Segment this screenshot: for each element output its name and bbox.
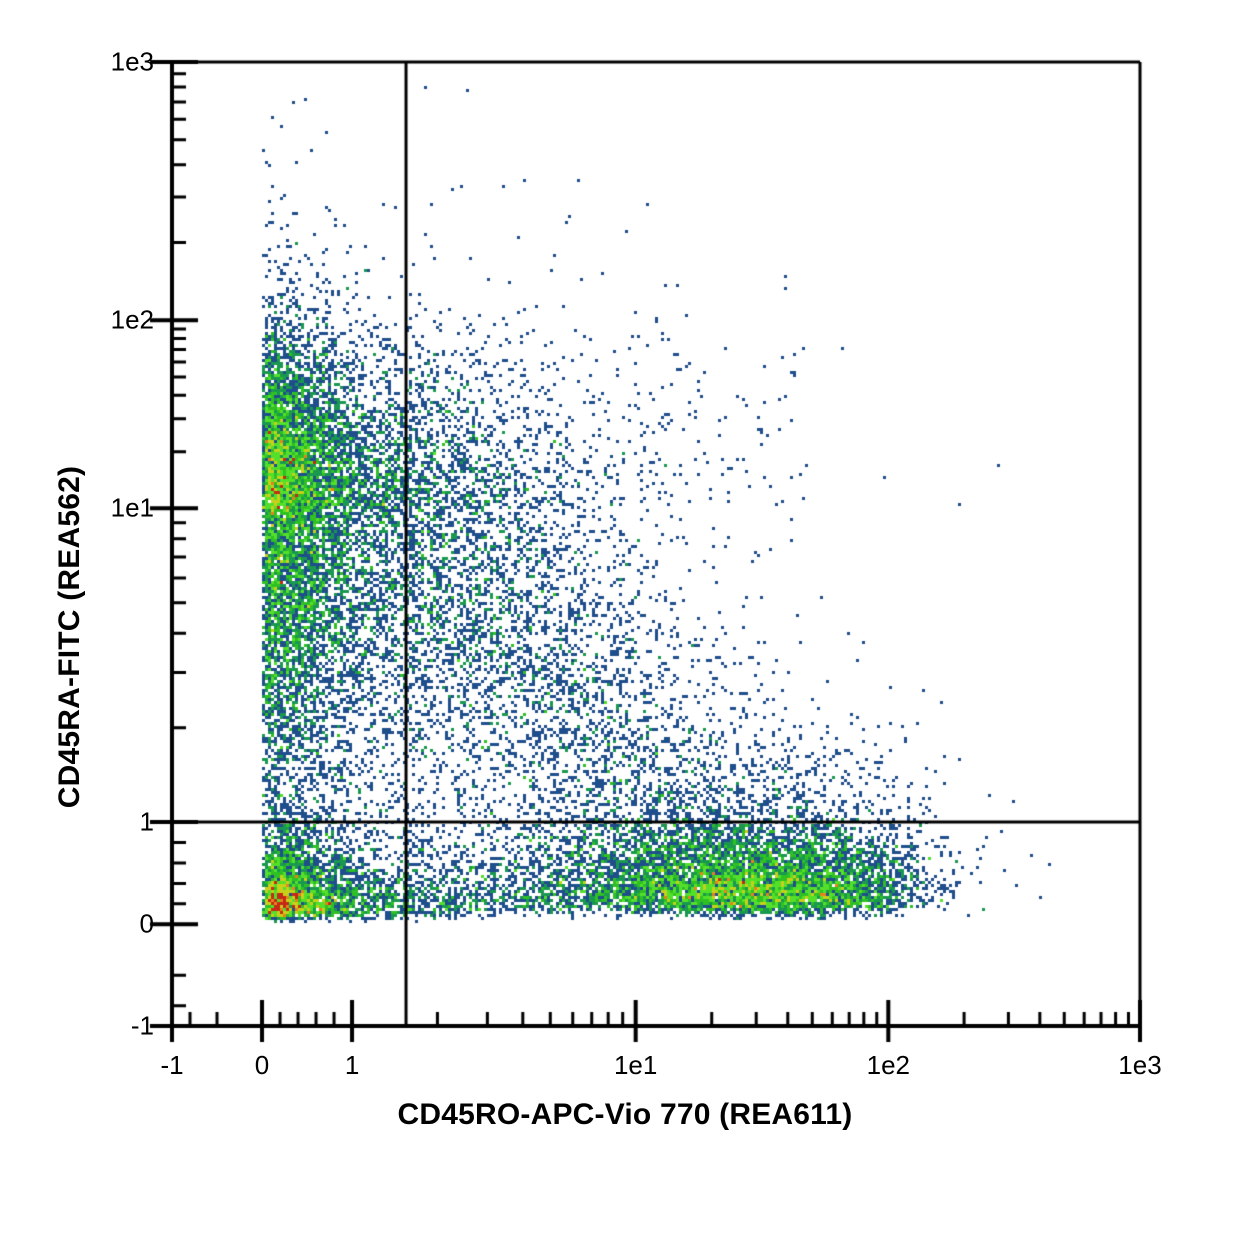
y-tick-label-3: 1e1 [44, 493, 154, 524]
y-tick-label-2: 1 [44, 807, 154, 838]
x-tick-label-5: 1e3 [1118, 1050, 1161, 1081]
x-tick-label-4: 1e2 [867, 1050, 910, 1081]
flow-cytometry-scatter-plot: CD45RO-APC-Vio 770 (REA611) CD45RA-FITC … [0, 0, 1250, 1250]
y-axis-title: CD45RA-FITC (REA562) [53, 307, 87, 967]
x-tick-label-2: 1 [345, 1050, 359, 1081]
x-tick-label-0: -1 [160, 1050, 183, 1081]
y-tick-label-4: 1e2 [44, 305, 154, 336]
x-axis-title: CD45RO-APC-Vio 770 (REA611) [0, 1098, 1250, 1132]
x-tick-label-1: 0 [255, 1050, 269, 1081]
y-tick-label-1: 0 [44, 909, 154, 940]
y-tick-label-5: 1e3 [44, 47, 154, 78]
y-tick-label-0: -1 [44, 1011, 154, 1042]
x-tick-label-3: 1e1 [614, 1050, 657, 1081]
